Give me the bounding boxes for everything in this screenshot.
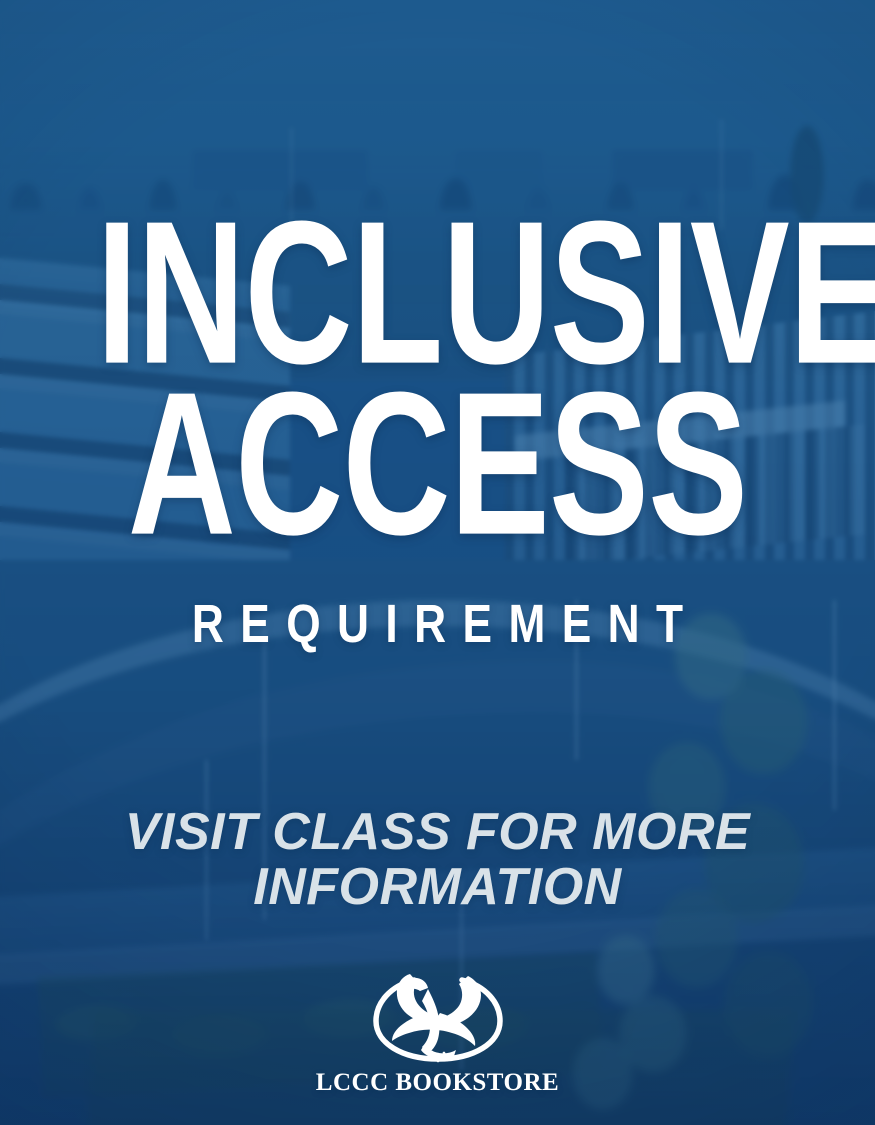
headline-line-2: ACCESS <box>96 364 779 563</box>
poster-subhead: REQUIREMENT <box>79 593 797 655</box>
poster-content: INCLUSIVE ACCESS REQUIREMENT VISIT CLASS… <box>0 0 875 1125</box>
lccc-bookstore-logo: LCCC BOOKSTORE <box>0 967 875 1097</box>
logo-wordmark: LCCC BOOKSTORE <box>316 1069 559 1097</box>
poster-headline: INCLUSIVE ACCESS <box>0 21 875 551</box>
inclusive-access-poster: INCLUSIVE ACCESS REQUIREMENT VISIT CLASS… <box>0 0 875 1125</box>
lccc-eagle-icon <box>370 967 506 1063</box>
poster-tagline: VISIT CLASS FOR MORE INFORMATION <box>108 805 768 915</box>
